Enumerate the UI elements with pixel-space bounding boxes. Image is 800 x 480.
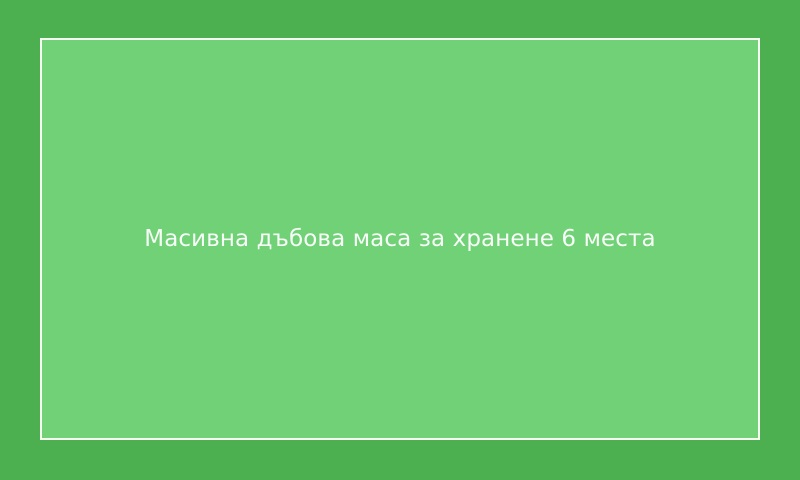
placeholder-image-panel: Масивна дъбова маса за хранене 6 места (40, 38, 760, 440)
placeholder-stage: Масивна дъбова маса за хранене 6 места (0, 0, 800, 480)
placeholder-caption-text: Масивна дъбова маса за хранене 6 места (42, 225, 758, 254)
